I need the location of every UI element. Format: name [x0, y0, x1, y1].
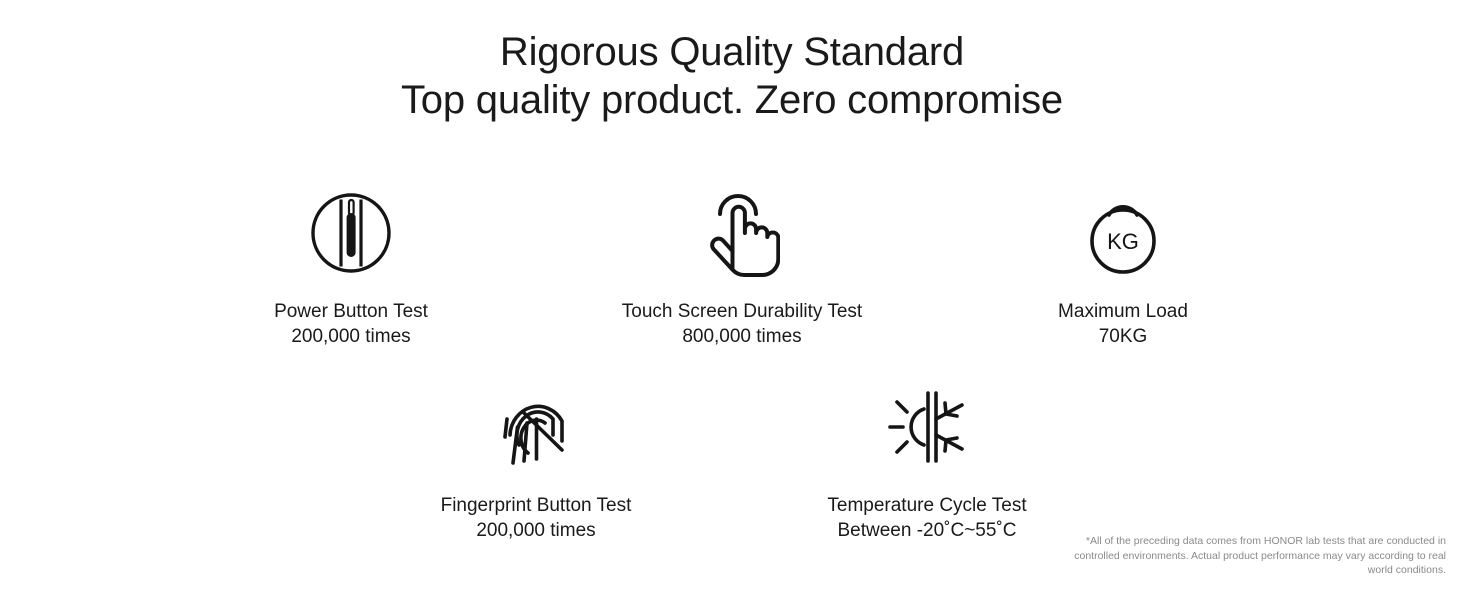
feature-caption: Maximum Load 70KG [993, 299, 1253, 349]
feature-value: Between -20˚C~55˚C [797, 518, 1057, 543]
feature-maximum-load: KG Maximum Load 70KG [993, 183, 1253, 349]
headline-secondary: Top quality product. Zero compromise [0, 76, 1464, 124]
feature-title: Maximum Load [993, 299, 1253, 324]
weight-kg-icon: KG [993, 183, 1253, 283]
touch-hand-icon [612, 183, 872, 283]
feature-fingerprint-button-test: Fingerprint Button Test 200,000 times [406, 377, 666, 543]
weight-icon-label: KG [1107, 229, 1139, 254]
feature-title: Temperature Cycle Test [797, 493, 1057, 518]
feature-value: 800,000 times [612, 324, 872, 349]
feature-caption: Touch Screen Durability Test 800,000 tim… [612, 299, 872, 349]
feature-title: Touch Screen Durability Test [612, 299, 872, 324]
feature-value: 70KG [993, 324, 1253, 349]
feature-caption: Fingerprint Button Test 200,000 times [406, 493, 666, 543]
feature-touch-screen-durability-test: Touch Screen Durability Test 800,000 tim… [612, 183, 872, 349]
fingerprint-icon [406, 377, 666, 477]
feature-value: 200,000 times [221, 324, 481, 349]
power-button-icon [221, 183, 481, 283]
footnote-disclaimer: *All of the preceding data comes from HO… [1066, 534, 1446, 578]
sun-snowflake-icon [797, 377, 1057, 477]
feature-caption: Temperature Cycle Test Between -20˚C~55˚… [797, 493, 1057, 543]
feature-title: Fingerprint Button Test [406, 493, 666, 518]
feature-title: Power Button Test [221, 299, 481, 324]
feature-caption: Power Button Test 200,000 times [221, 299, 481, 349]
quality-standard-panel: Rigorous Quality Standard Top quality pr… [0, 0, 1464, 600]
headline-primary: Rigorous Quality Standard [0, 28, 1464, 76]
feature-temperature-cycle-test: Temperature Cycle Test Between -20˚C~55˚… [797, 377, 1057, 543]
page-title: Rigorous Quality Standard Top quality pr… [0, 28, 1464, 124]
feature-power-button-test: Power Button Test 200,000 times [221, 183, 481, 349]
feature-value: 200,000 times [406, 518, 666, 543]
